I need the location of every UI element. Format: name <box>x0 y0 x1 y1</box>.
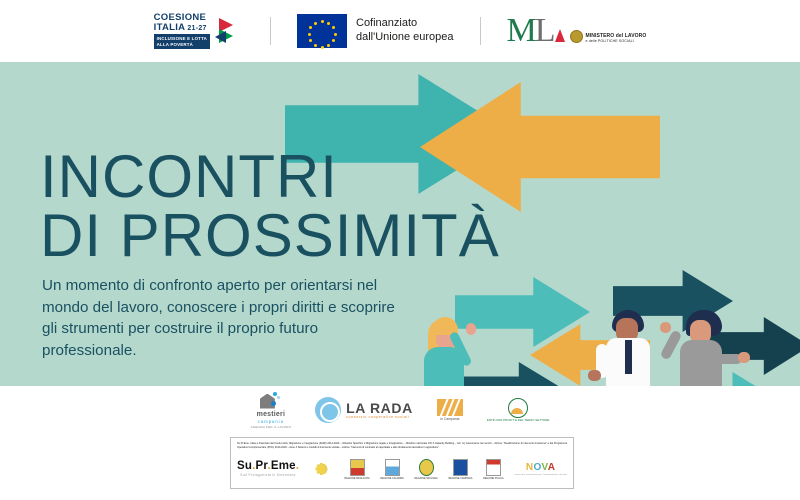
logo-european-union: Cofinanziato dall'Unione europea <box>297 14 454 48</box>
logo-divider-1 <box>270 17 271 45</box>
footer-funding-box: Su.Pr.Eme. Italia è finanziato dal Fondo… <box>230 437 574 489</box>
nova-wordmark: NOVA <box>526 462 555 473</box>
intro-paragraph: Un momento di confronto aperto per orien… <box>42 275 402 361</box>
migranti-sub: in Campania <box>440 417 459 421</box>
coesione-band-line2: ALLA POVERTÀ <box>157 42 193 47</box>
logo-migranti-campania: in Campania <box>437 399 463 421</box>
republic-seal-icon <box>570 30 583 43</box>
puglia-caption: REGIONE PUGLIA <box>483 477 503 480</box>
ministero-text-lockup: MINISTERO del LAVORO e delle POLITICHE S… <box>586 33 647 43</box>
page-title: INCONTRI DI PROSSIMITÀ <box>40 148 500 266</box>
mestieri-tagline: AGENZIA PER IL LAVORO <box>251 425 292 429</box>
ministero-monogram-m: M <box>507 17 537 46</box>
ente-sub: ENTE NON PROFIT E DEL TERZO SETTORE <box>487 419 550 423</box>
logo-supreme-italia: Su.Pr.Eme. Sud Protagonista in Emersione <box>237 461 299 478</box>
migranti-mark-icon <box>437 399 463 416</box>
logo-ministero-lavoro: M L MINISTERO del LAVORO e delle POLITIC… <box>507 17 647 46</box>
footer-logo-strip: Su.Pr.Eme. Sud Protagonista in Emersione… <box>237 454 567 484</box>
campania-caption: REGIONE CAMPANIA <box>448 477 472 480</box>
sicilia-caption: REGIONE SICILIANA <box>415 477 438 480</box>
illustration-person-man-center <box>600 310 660 386</box>
supreme-sub: Sud Protagonista in Emersione <box>240 474 296 477</box>
partner-logo-row: mestieri campania AGENZIA PER IL LAVORO … <box>0 386 800 434</box>
ente-circle-icon <box>508 398 528 418</box>
mestieri-sub: campania <box>258 419 284 424</box>
ministero-monogram-l: L <box>535 17 556 46</box>
nova-letter-o: O <box>533 462 541 473</box>
poster-canvas: COESIONE ITALIA 21-27 INCLUSIONE E LOTTA… <box>0 0 800 500</box>
coesione-years: 21-27 <box>187 25 206 32</box>
logo-divider-2 <box>480 17 481 45</box>
la-rada-sub: consorzio cooperative sociali <box>346 416 413 420</box>
basilicata-caption: REGIONE BASILICATA <box>345 477 370 480</box>
la-rada-circle-icon <box>315 397 341 423</box>
supreme-name: Su.Pr.Eme. <box>237 461 299 473</box>
coesione-arrow-mark <box>214 16 244 46</box>
nova-sub: consorzio nazionale per l'innovazione so… <box>514 474 567 476</box>
campania-crest-icon <box>453 459 468 476</box>
puglia-crest-icon <box>486 459 501 476</box>
coesione-band: INCLUSIONE E LOTTA ALLA POVERTÀ <box>154 34 210 49</box>
calabria-crest-icon <box>385 459 400 476</box>
logo-regione-puglia: REGIONE PUGLIA <box>483 459 503 480</box>
la-rada-text-lockup: LA RADA consorzio cooperative sociali <box>346 401 413 420</box>
eu-text-lockup: Cofinanziato dall'Unione europea <box>356 17 454 45</box>
hero-panel: INCONTRI DI PROSSIMITÀ Un momento di con… <box>0 62 800 386</box>
logo-regione-basilicata: REGIONE BASILICATA <box>345 459 370 480</box>
mestieri-name: mestieri <box>257 411 285 418</box>
sicilia-crest-icon <box>419 459 434 476</box>
logo-nova: NOVA consorzio nazionale per l'innovazio… <box>514 462 567 476</box>
funding-disclaimer-text: Su.Pr.Eme. Italia è finanziato dal Fondo… <box>237 442 567 449</box>
logo-regione-campania: REGIONE CAMPANIA <box>448 459 472 480</box>
coesione-text-lockup: COESIONE ITALIA 21-27 INCLUSIONE E LOTTA… <box>154 13 210 49</box>
blue-arrow-shape <box>215 31 226 43</box>
logo-coesione-italia: COESIONE ITALIA 21-27 INCLUSIONE E LOTTA… <box>154 13 244 49</box>
eu-flag-icon <box>297 14 347 48</box>
nova-letter-a: A <box>548 462 556 473</box>
institutional-logo-bar: COESIONE ITALIA 21-27 INCLUSIONE E LOTTA… <box>0 0 800 62</box>
la-rada-name: LA RADA <box>346 401 413 415</box>
logo-regione-siciliana: REGIONE SICILIANA <box>415 459 438 480</box>
illustration-person-man-right <box>668 310 754 386</box>
logo-regione-calabria: REGIONE CALABRIA <box>380 459 404 480</box>
eu-line2: dall'Unione europea <box>356 31 454 45</box>
basilicata-crest-icon <box>350 459 365 476</box>
calabria-caption: REGIONE CALABRIA <box>380 477 404 480</box>
coesione-line2: ITALIA 21-27 <box>154 23 207 33</box>
logo-la-rada: LA RADA consorzio cooperative sociali <box>315 397 413 423</box>
coesione-italia-word: ITALIA <box>154 23 186 33</box>
eu-line1: Cofinanziato <box>356 17 454 31</box>
ministero-red-triangle-icon <box>555 29 565 42</box>
coesione-band-line1: INCLUSIONE E LOTTA <box>157 36 207 41</box>
logo-ente-terzo-settore: ENTE NON PROFIT E DEL TERZO SETTORE <box>487 398 550 423</box>
ministero-line2: e delle POLITICHE SOCIALI <box>586 39 647 43</box>
illustration-person-woman <box>412 315 482 386</box>
supreme-compass-star-icon <box>310 457 334 481</box>
mestieri-house-icon <box>260 392 282 410</box>
logo-mestieri-campania: mestieri campania AGENZIA PER IL LAVORO <box>251 392 292 429</box>
